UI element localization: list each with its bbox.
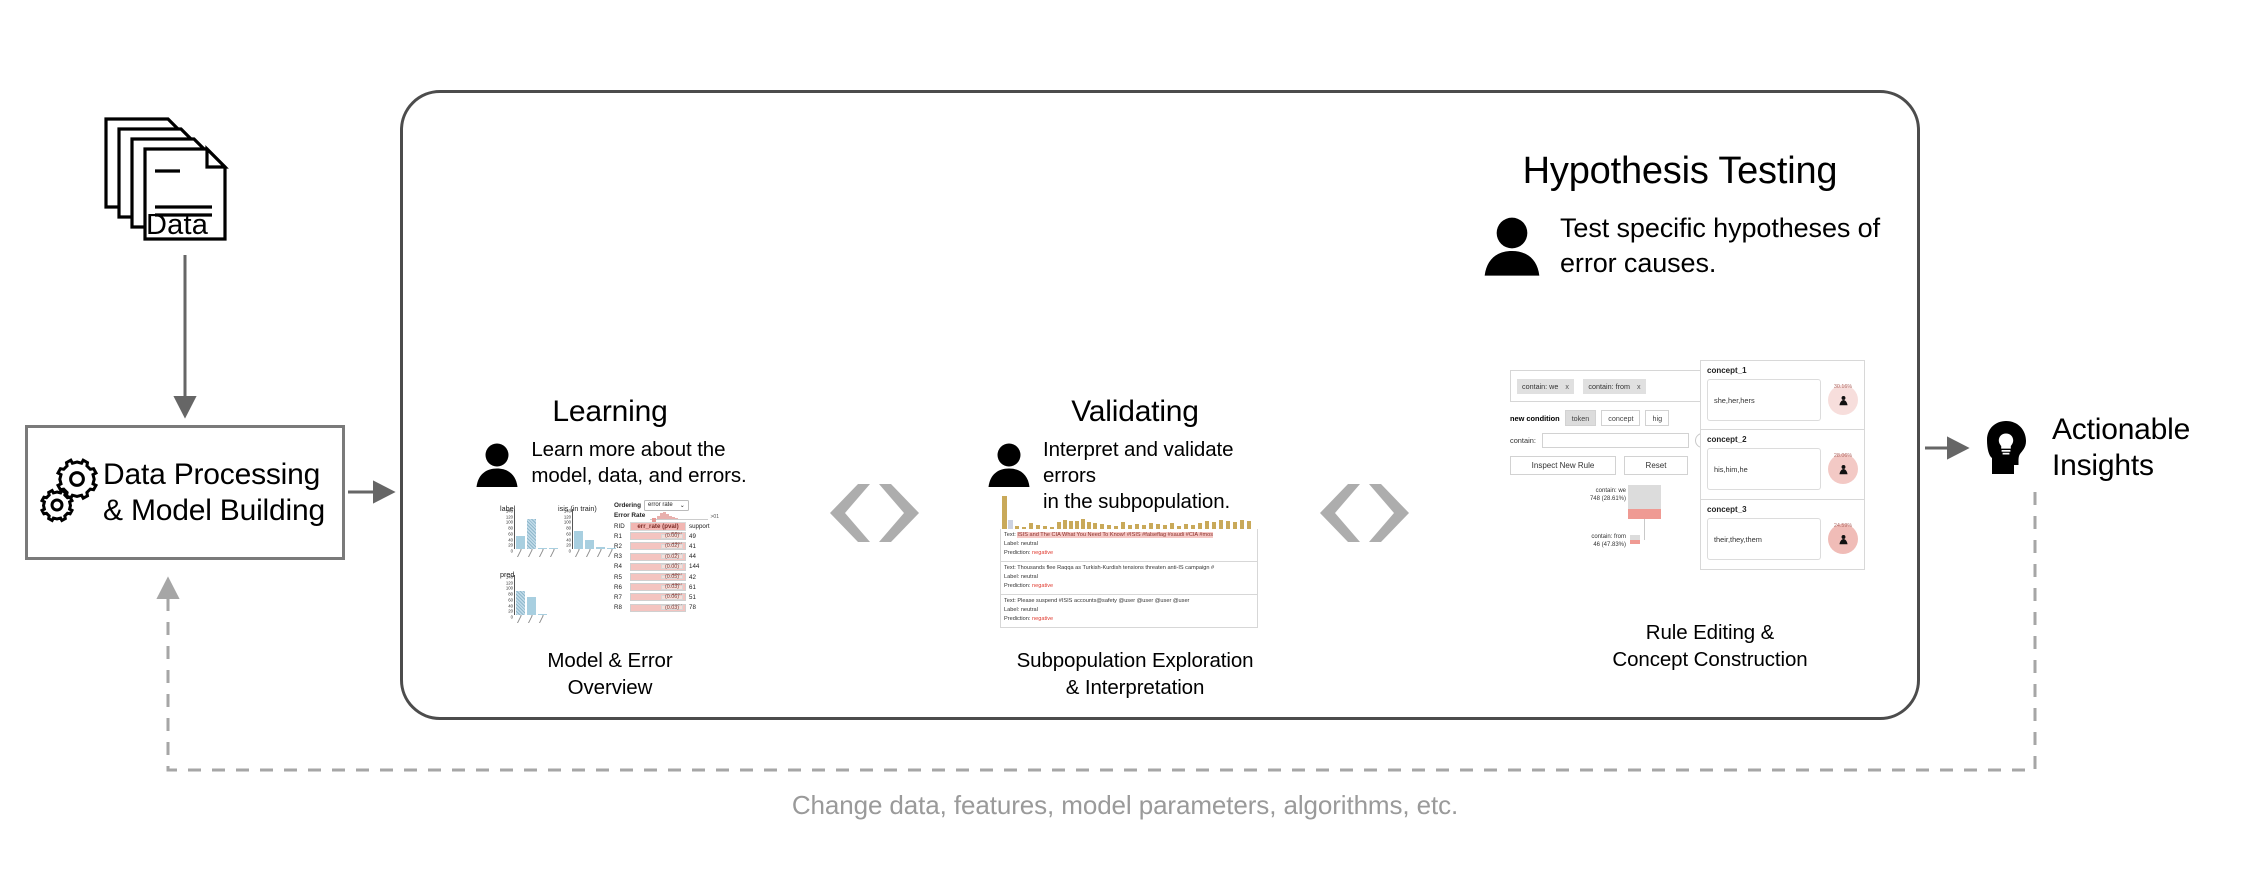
table-row[interactable]: R1 55%(0.00) 49 <box>614 531 718 541</box>
learning-title: Learning <box>470 395 750 429</box>
data-processing-content: Data Processing & Model Building <box>25 425 345 560</box>
concept-tokens-input[interactable]: she,her,hers <box>1707 379 1821 421</box>
gears-icon <box>39 458 101 528</box>
table-row[interactable]: R4 43%(0.00) 144 <box>614 562 718 572</box>
learning-caption: Model & Error Overview <box>470 648 750 701</box>
validating-caption: Subpopulation Exploration & Interpretati… <box>985 648 1285 701</box>
actionable-insights-label: Actionable Insights <box>2052 412 2190 484</box>
connector-chevrons-2 <box>1318 482 1411 544</box>
mini-bar-charts: label 140120 10080 6040 200 isis <box>500 504 612 652</box>
chevron-down-icon: ⌄ <box>680 502 685 509</box>
table-row[interactable]: R5 43%(0.05) 42 <box>614 572 718 582</box>
table-row[interactable]: R7 41%(0.06) 51 <box>614 592 718 602</box>
reset-button[interactable]: Reset <box>1624 456 1688 475</box>
table-row[interactable]: R6 43%(0.03) 61 <box>614 582 718 592</box>
sample-label-line: Label: neutral <box>1004 540 1254 549</box>
table-row[interactable]: R2 46%(0.02) 41 <box>614 541 718 551</box>
connector-chevrons-1 <box>828 482 921 544</box>
sample-label-line: Label: neutral <box>1004 606 1254 615</box>
concept-percent: 24.59% <box>1828 523 1858 529</box>
sample-card[interactable]: Text: Please suspend #ISIS accounts@safe… <box>1000 595 1258 628</box>
concept-group[interactable]: concept_3 their,they,them 24.59% <box>1700 500 1865 570</box>
tree-node[interactable]: contain: we 748 (28.61%) <box>1550 487 1626 504</box>
person-marker-icon <box>1839 534 1848 545</box>
concept-title: concept_3 <box>1707 505 1858 514</box>
y-ticks: 140120 10080 6040 200 <box>558 509 572 551</box>
contain-input[interactable] <box>1542 433 1689 448</box>
rule-editing-caption: Rule Editing & Concept Construction <box>1540 620 1880 673</box>
concept-tokens-input[interactable]: his,him,he <box>1707 448 1821 490</box>
ordering-select[interactable]: error rate ⌄ <box>644 500 689 511</box>
concept-panel[interactable]: concept_1 she,her,hers 30.16% concept_2 … <box>1700 360 1865 575</box>
condition-chip[interactable]: contain: from x <box>1583 379 1645 394</box>
bars <box>516 509 558 549</box>
condition-chips[interactable]: contain: we x contain: from x <box>1510 370 1710 402</box>
concept-percent: 28.06% <box>1828 453 1858 459</box>
type-button-token[interactable]: token <box>1565 410 1597 426</box>
hypothesis-testing-block: Hypothesis Testing Test specific hypothe… <box>1460 150 1900 281</box>
ordering-row[interactable]: Ordering error rate ⌄ <box>614 500 718 511</box>
table-header: RID err_rate (pval) support <box>614 522 718 531</box>
stage-learning: Learning Learn more about the model, dat… <box>470 395 750 489</box>
contain-row: contain: + <box>1510 433 1710 448</box>
rule-action-buttons: Inspect New Rule Reset <box>1510 456 1710 475</box>
hypothesis-persona: Test specific hypotheses of error causes… <box>1460 211 1900 281</box>
hypothesis-title: Hypothesis Testing <box>1460 150 1900 193</box>
contain-label: contain: <box>1510 436 1536 445</box>
data-processing-label: Data Processing & Model Building <box>103 457 325 528</box>
model-error-overview-thumbnail[interactable]: label 140120 10080 6040 200 isis <box>500 500 718 655</box>
y-ticks: 140120 10080 6040 200 <box>500 575 514 617</box>
sample-text-line: Text: Please suspend #ISIS accounts@safe… <box>1004 597 1254 606</box>
concept-title: concept_2 <box>1707 435 1858 444</box>
condition-chip[interactable]: contain: we x <box>1517 379 1574 394</box>
person-icon <box>985 440 1033 488</box>
error-rate-filter-row[interactable]: Error Rate >01 <box>614 511 718 522</box>
sample-card[interactable]: Text: Thousands flee Raqqa as Turkish-Ku… <box>1000 562 1258 595</box>
mini-chart-isis: isis (in train) 140120 10080 6040 200 <box>558 504 612 558</box>
tree-bar <box>1628 485 1661 519</box>
error-rate-histogram[interactable]: >01 <box>648 511 718 521</box>
concept-tokens-input[interactable]: their,they,them <box>1707 518 1821 560</box>
chevron-left-icon <box>828 482 870 544</box>
concept-stat-bubble: 28.06% <box>1828 454 1858 484</box>
type-button-concept[interactable]: concept <box>1601 410 1640 426</box>
concept-percent: 30.16% <box>1828 384 1858 390</box>
table-row[interactable]: R3 45%(0.02) 44 <box>614 552 718 562</box>
sample-text-line: Text: ISIS and The CIA What You Need To … <box>1004 531 1254 540</box>
head-lightbulb-icon <box>1975 418 2037 480</box>
feedback-loop-caption: Change data, features, model parameters,… <box>0 790 2250 821</box>
sample-card[interactable]: Text: ISIS and The CIA What You Need To … <box>1000 529 1258 562</box>
concept-group[interactable]: concept_1 she,her,hers 30.16% <box>1700 360 1865 430</box>
chevron-left-icon <box>1318 482 1360 544</box>
inspect-new-rule-button[interactable]: Inspect New Rule <box>1510 456 1616 475</box>
subpopulation-exploration-thumbnail[interactable]: Text: ISIS and The CIA What You Need To … <box>1000 495 1258 645</box>
concept-stat-bubble: 30.16% <box>1828 385 1858 415</box>
person-marker-icon <box>1839 464 1848 475</box>
concept-title: concept_1 <box>1707 366 1858 375</box>
rule-table[interactable]: Ordering error rate ⌄ Error Rate >01 RID… <box>614 500 718 652</box>
sample-prediction-line: Prediction: negative <box>1004 582 1254 591</box>
sample-prediction-line: Prediction: negative <box>1004 549 1254 558</box>
person-icon <box>473 440 521 488</box>
sample-text-line: Text: Thousands flee Raqqa as Turkish-Ku… <box>1004 564 1254 573</box>
validating-title: Validating <box>985 395 1285 429</box>
sample-prediction-line: Prediction: negative <box>1004 615 1254 624</box>
mini-chart-label: label 140120 10080 6040 200 <box>500 504 554 558</box>
concept-group[interactable]: concept_2 his,him,he 28.06% <box>1700 430 1865 500</box>
sample-label-line: Label: neutral <box>1004 573 1254 582</box>
person-marker-icon <box>1839 395 1848 406</box>
learning-persona: Learn more about the model, data, and er… <box>470 437 750 489</box>
new-condition-row: new condition token concept hig <box>1510 410 1710 426</box>
person-icon <box>1480 213 1544 277</box>
y-ticks: 140120 10080 6040 200 <box>500 509 514 551</box>
new-condition-label: new condition <box>1510 414 1560 423</box>
table-row[interactable]: R8 41%(0.03) 78 <box>614 603 718 613</box>
subpopulation-histogram[interactable] <box>1000 495 1258 529</box>
bars <box>516 575 547 615</box>
rule-editor-thumbnail[interactable]: contain: we x contain: from x new condit… <box>1510 370 1710 580</box>
tree-node[interactable]: contain: from 46 (47.83%) <box>1548 533 1626 550</box>
bars <box>574 509 616 549</box>
mini-chart-pred: pred 140120 10080 6040 200 <box>500 570 554 624</box>
type-button-highlight[interactable]: hig <box>1645 410 1669 426</box>
tree-bar <box>1630 535 1640 544</box>
chevron-right-icon <box>879 482 921 544</box>
rule-tree: contain: we 748 (28.61%) contain: from 4… <box>1510 485 1710 557</box>
learning-persona-text: Learn more about the model, data, and er… <box>531 437 746 489</box>
hypothesis-persona-text: Test specific hypotheses of error causes… <box>1560 211 1880 281</box>
chevron-right-icon <box>1369 482 1411 544</box>
concept-stat-bubble: 24.59% <box>1828 524 1858 554</box>
close-icon[interactable]: x <box>1637 382 1641 391</box>
close-icon[interactable]: x <box>1565 382 1569 391</box>
